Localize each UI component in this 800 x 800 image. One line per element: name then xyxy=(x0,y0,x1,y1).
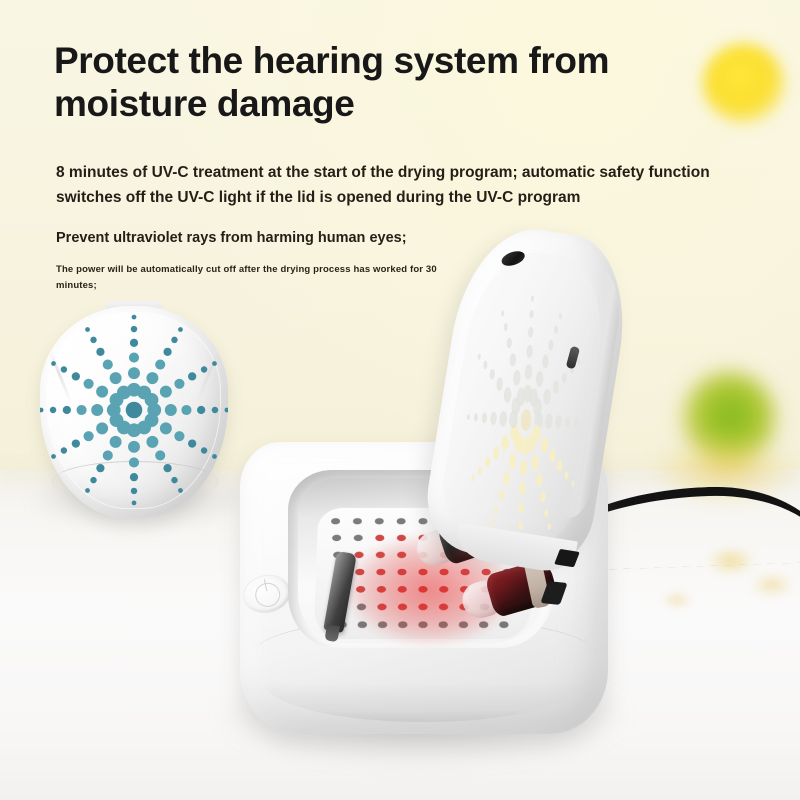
headline: Protect the hearing system from moisture… xyxy=(54,40,694,126)
power-icon xyxy=(253,581,282,610)
product-marketing-image: Protect the hearing system from moisture… xyxy=(0,0,800,800)
uv-dryer-unit xyxy=(200,230,670,750)
subheadline: 8 minutes of UV-C treatment at the start… xyxy=(56,160,756,210)
